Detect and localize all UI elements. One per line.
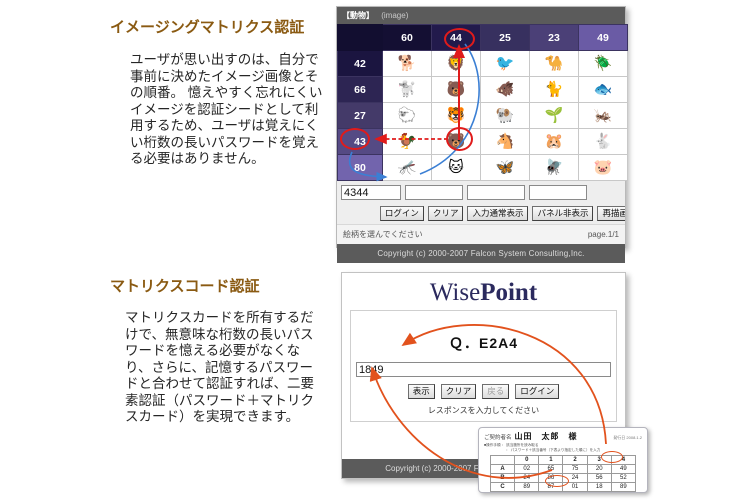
matrix-cell-2-4[interactable]: 🦗 bbox=[579, 103, 628, 129]
card-cell-C4: 89 bbox=[611, 483, 635, 492]
status-message: 絵柄を選んでください bbox=[343, 229, 423, 240]
imaging-auth-window: 【動物】 (image) 60 44 25 23 49 42 🐕 🦁 🐦 🐪 🪲 bbox=[336, 6, 626, 248]
matrix-cell-3-0[interactable]: 🐓 bbox=[383, 129, 432, 155]
wisepoint-form-area: Ｑ．E2A4 1849 表示 クリア 戻る ログイン レスポンスを入力してくださ… bbox=[350, 310, 617, 422]
matrix-cell-2-1[interactable]: 🐯 bbox=[432, 103, 481, 129]
back-button: 戻る bbox=[482, 384, 509, 399]
redraw-button[interactable]: 再描画 bbox=[597, 206, 625, 221]
card-row-label-D: D bbox=[491, 492, 515, 494]
card-col-header-2: 2 bbox=[563, 456, 587, 465]
logo-text-wise: Wise bbox=[430, 279, 480, 306]
card-note-line2: ： パスワード＋該当番号（下表より指定した順に）を入力 bbox=[484, 448, 600, 452]
matrix-col-header-2[interactable]: 25 bbox=[481, 25, 530, 51]
section-title-matrixcode: マトリクスコード認証 bbox=[110, 275, 260, 296]
highlight-circle-card-E2 bbox=[545, 475, 569, 487]
card-note-line1: ： 該当箇所を読み取る bbox=[502, 443, 539, 447]
card-col-header-0: 0 bbox=[515, 456, 539, 465]
display-button[interactable]: 表示 bbox=[408, 384, 435, 399]
matrix-col-header-4[interactable]: 49 bbox=[579, 25, 628, 51]
card-row-label-A: A bbox=[491, 465, 515, 474]
matrix-cell-4-2[interactable]: 🦋 bbox=[481, 155, 530, 181]
normal-display-button[interactable]: 入力通常表示 bbox=[467, 206, 528, 221]
titlebar-subtitle: (image) bbox=[381, 11, 408, 20]
card-cell-D2: 08 bbox=[563, 492, 587, 494]
wisepoint-logo: WisePoint bbox=[342, 273, 625, 310]
clear-button[interactable]: クリア bbox=[428, 206, 464, 221]
section-body-imaging: ユーザが思い出すのは、自分で事前に決めたイメージ画像とその順番。 憶えやすく忘れ… bbox=[130, 52, 325, 168]
card-cell-C0: 89 bbox=[515, 483, 539, 492]
login-button[interactable]: ログイン bbox=[380, 206, 424, 221]
card-cell-B3: 56 bbox=[587, 474, 611, 483]
matrix-cell-1-1[interactable]: 🐻 bbox=[432, 77, 481, 103]
card-cell-D1: 61 bbox=[539, 492, 563, 494]
password-field-1[interactable]: 4344 bbox=[341, 185, 401, 200]
hide-panel-button[interactable]: パネル非表示 bbox=[532, 206, 593, 221]
card-cell-B4: 52 bbox=[611, 474, 635, 483]
imaging-button-row: ログイン クリア 入力通常表示 パネル非表示 再描画 bbox=[337, 203, 625, 224]
titlebar-category: 【動物】 bbox=[342, 11, 374, 20]
matrix-cell-4-0[interactable]: 🦟 bbox=[383, 155, 432, 181]
window-titlebar: 【動物】 (image) bbox=[337, 7, 625, 24]
table-row: 43 🐓 🐻 🐴 🐹 🐇 bbox=[338, 129, 628, 155]
response-input[interactable]: 1849 bbox=[356, 362, 611, 377]
image-matrix-grid[interactable]: 60 44 25 23 49 42 🐕 🦁 🐦 🐪 🪲 66 🐩 🐻 🐗 🐈 bbox=[337, 24, 628, 181]
table-row: 66 🐩 🐻 🐗 🐈 🐟 bbox=[338, 77, 628, 103]
table-row: A 02 65 75 20 49 bbox=[491, 465, 636, 474]
card-cell-A3: 20 bbox=[587, 465, 611, 474]
matrix-col-header-0[interactable]: 60 bbox=[383, 25, 432, 51]
page-indicator: page.1/1 bbox=[588, 230, 619, 239]
password-input-row: 4344 bbox=[337, 181, 625, 203]
imaging-status-bar: 絵柄を選んでください page.1/1 bbox=[337, 224, 625, 244]
matrix-cell-0-2[interactable]: 🐦 bbox=[481, 51, 530, 77]
matrix-cell-1-0[interactable]: 🐩 bbox=[383, 77, 432, 103]
card-issue-date: 発行日 2008.1.2 bbox=[613, 435, 642, 441]
matrix-cell-1-2[interactable]: 🐗 bbox=[481, 77, 530, 103]
table-row: D 17 61 08 06 15 bbox=[491, 492, 636, 494]
wisepoint-button-row: 表示 クリア 戻る ログイン bbox=[351, 384, 616, 399]
matrix-cell-3-4[interactable]: 🐇 bbox=[579, 129, 628, 155]
card-row-label-C: C bbox=[491, 483, 515, 492]
matrix-cell-0-4[interactable]: 🪲 bbox=[579, 51, 628, 77]
matrix-cell-4-3[interactable]: 🪰 bbox=[530, 155, 579, 181]
password-field-4[interactable] bbox=[529, 185, 587, 200]
response-hint: レスポンスを入力してください bbox=[351, 405, 616, 416]
matrix-cell-2-2[interactable]: 🐏 bbox=[481, 103, 530, 129]
card-owner-row: ご契約者名 山田 太郎 様 発行日 2008.1.2 bbox=[484, 431, 642, 442]
matrix-cell-0-1[interactable]: 🦁 bbox=[432, 51, 481, 77]
highlight-circle-selected-cell bbox=[446, 127, 473, 151]
matrix-cell-1-3[interactable]: 🐈 bbox=[530, 77, 579, 103]
card-corner-cell bbox=[491, 456, 515, 465]
matrix-row-header-4[interactable]: 80 bbox=[338, 155, 383, 181]
matrix-cell-0-3[interactable]: 🐪 bbox=[530, 51, 579, 77]
highlight-circle-row-43 bbox=[340, 128, 370, 150]
password-field-3[interactable] bbox=[467, 185, 525, 200]
card-owner-name: 山田 太郎 様 bbox=[515, 431, 578, 442]
card-note-label: ■操作手順 bbox=[484, 443, 501, 447]
section-title-imaging: イメージングマトリクス認証 bbox=[110, 16, 304, 37]
card-cell-D3: 06 bbox=[587, 492, 611, 494]
matrix-cell-2-0[interactable]: 🐑 bbox=[383, 103, 432, 129]
card-col-header-1: 1 bbox=[539, 456, 563, 465]
password-field-2[interactable] bbox=[405, 185, 463, 200]
matrix-col-header-3[interactable]: 23 bbox=[530, 25, 579, 51]
card-cell-B0: 24 bbox=[515, 474, 539, 483]
card-row-label-B: B bbox=[491, 474, 515, 483]
imaging-copyright-footer: Copyright (c) 2000-2007 Falcon System Co… bbox=[337, 244, 625, 263]
card-owner-label: ご契約者名 bbox=[484, 433, 512, 441]
table-row: 80 🦟 🐱 🦋 🪰 🐷 bbox=[338, 155, 628, 181]
table-row: 42 🐕 🦁 🐦 🐪 🪲 bbox=[338, 51, 628, 77]
card-cell-A1: 65 bbox=[539, 465, 563, 474]
highlight-circle-card-A4 bbox=[601, 451, 623, 463]
matrix-row-header-0[interactable]: 42 bbox=[338, 51, 383, 77]
login-button[interactable]: ログイン bbox=[515, 384, 559, 399]
matrix-row-header-2[interactable]: 27 bbox=[338, 103, 383, 129]
card-cell-A4: 49 bbox=[611, 465, 635, 474]
matrix-corner-cell bbox=[338, 25, 383, 51]
matrix-cell-1-4[interactable]: 🐟 bbox=[579, 77, 628, 103]
matrix-cell-4-4[interactable]: 🐷 bbox=[579, 155, 628, 181]
matrix-cell-4-1[interactable]: 🐱 bbox=[432, 155, 481, 181]
highlight-circle-col-44 bbox=[444, 28, 475, 50]
matrix-row-header-1[interactable]: 66 bbox=[338, 77, 383, 103]
logo-text-point: Point bbox=[480, 279, 537, 306]
card-cell-C3: 18 bbox=[587, 483, 611, 492]
card-cell-D0: 17 bbox=[515, 492, 539, 494]
matrix-cell-3-3[interactable]: 🐹 bbox=[530, 129, 579, 155]
card-cell-A2: 75 bbox=[563, 465, 587, 474]
card-cell-D4: 15 bbox=[611, 492, 635, 494]
challenge-code: Ｑ．E2A4 bbox=[351, 333, 616, 353]
section-body-matrixcode: マトリクスカードを所有するだけで、無意味な桁数の長いパスワードを憶える必要がなく… bbox=[125, 310, 325, 426]
table-row: 27 🐑 🐯 🐏 🌱 🦗 bbox=[338, 103, 628, 129]
clear-button[interactable]: クリア bbox=[441, 384, 477, 399]
matrix-cell-0-0[interactable]: 🐕 bbox=[383, 51, 432, 77]
matrix-header-row: 60 44 25 23 49 bbox=[338, 25, 628, 51]
matrix-cell-2-3[interactable]: 🌱 bbox=[530, 103, 579, 129]
matrix-cell-3-2[interactable]: 🐴 bbox=[481, 129, 530, 155]
slide-canvas: イメージングマトリクス認証 ユーザが思い出すのは、自分で事前に決めたイメージ画像… bbox=[0, 0, 748, 500]
card-cell-A0: 02 bbox=[515, 465, 539, 474]
